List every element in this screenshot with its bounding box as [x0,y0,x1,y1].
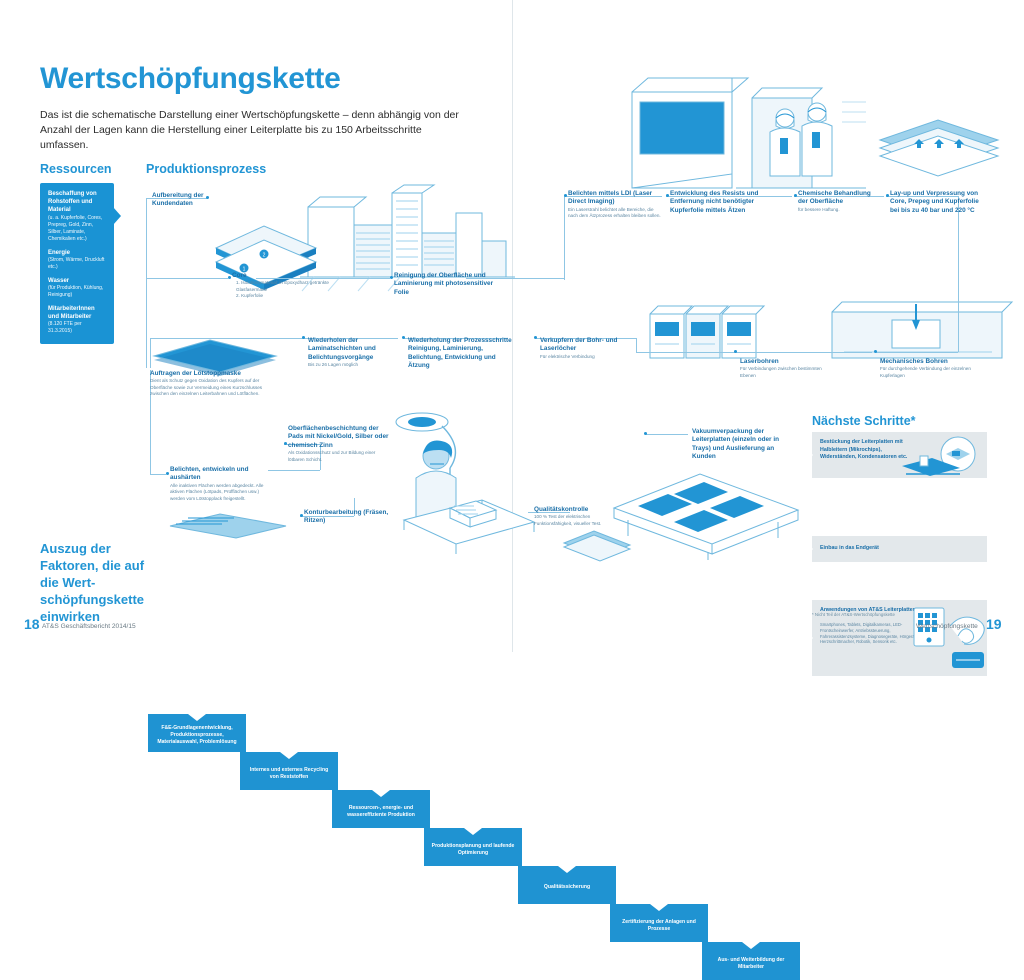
factor-chip[interactable]: Internes und externes Recycling von Rest… [240,752,338,790]
step-label: Wiederholen der Laminatschichten und Bel… [308,337,402,362]
connector [150,338,151,368]
step-detail: 1. Isolationsmaterial: in Epoxydharz get… [232,280,332,299]
step-detail: Ein Laserstrahl belichtet alle Bereiche,… [568,207,664,220]
step-ldi: Belichten mittels LDI (Laser Direct Imag… [568,190,664,220]
step-resist: Entwicklung des Resists und Entfernung n… [670,190,784,215]
resource-item: MitarbeiterInnen und Mitarbeiter (8.120 … [48,305,106,335]
connector-dot [734,350,737,353]
section-heading-resources: Ressourcen [40,162,112,176]
page-gutter [512,0,513,652]
resource-title: MitarbeiterInnen und Mitarbeiter [48,305,106,321]
section-heading-process: Produktionsprozess [146,162,266,176]
connector [268,470,320,471]
connector [646,434,688,435]
step-detail: Für elektrische Verbindung [540,354,636,360]
page-lead: Das ist die schematische Darstellung ein… [40,108,470,153]
connector [636,352,736,353]
step-detail: Alle inaktiven Flächen werden abgedeckt.… [170,483,272,502]
page-number-left: 18 [24,616,40,632]
resources-arrow [113,207,121,225]
step-label: Oberflächenbeschichtung der Pads mit Nic… [288,425,392,450]
connector-dot [228,276,231,279]
resource-detail: (für Produktion, Kühlung, Reinigung) [48,285,106,299]
factor-label: F&E-Grundlagenentwicklung, Produktionspr… [153,720,241,746]
footnote: * Nicht Teil der AT&S-Wertschöpfungskett… [812,612,895,617]
step-detail: Dient als Schutz gegen Oxidation des Kup… [150,378,266,397]
resource-detail: (u. a. Kupferfolie, Cores, Prepreg, Gold… [48,215,106,243]
step-label: Entwicklung des Resists und Entfernung n… [670,190,784,215]
step-label: Belichten mittels LDI (Laser Direct Imag… [568,190,664,207]
step-label: Chemische Behandlung der Oberfläche [798,190,882,207]
step-belichten-entwickeln: Belichten, entwickeln und aushärten Alle… [170,466,272,502]
connector-dot [644,432,647,435]
factor-chip[interactable]: Aus- und Weiterbildung der Mitarbeiter [702,942,800,980]
conveyor-panels-illustration [608,452,808,557]
factor-chip[interactable]: Zertifizierung der Anlagen und Prozesse [610,904,708,942]
card-arrow-icon [812,542,813,556]
connector-dot [302,336,305,339]
connector-dot [564,194,567,197]
factor-chip[interactable]: F&E-Grundlagenentwicklung, Produktionspr… [148,714,246,752]
connector [150,474,166,475]
step-label: Aufbereitung der Kundendaten [152,192,226,209]
step-loetstoppmaske: Auftragen der Lötstoppmaske Dient als Sc… [150,370,266,398]
step-kundendaten: Aufbereitung der Kundendaten [152,192,226,209]
svg-text:2: 2 [263,253,266,259]
step-detail: Für Verbindungen zwischen bestimmten Ebe… [740,366,836,379]
step-reinigung: Reinigung der Oberfläche und Laminierung… [394,272,502,297]
factor-label: Zertifizierung der Anlagen und Prozesse [615,914,703,933]
page-title: Wertschöpfungskette [40,62,340,96]
step-label: Reinigung der Oberfläche und Laminierung… [394,272,502,297]
connector-dot [534,336,537,339]
step-detail: 100 % Test der elektrischen Funktionsfäh… [534,514,618,527]
factor-chip[interactable]: Produktionsplanung und laufende Optimier… [424,828,522,866]
step-wiederholen: Wiederholen der Laminatschichten und Bel… [308,337,402,369]
connector [958,196,959,352]
devices-icon [912,604,986,674]
footer-source-right: Wertschöpfungskette [916,623,978,630]
step-oberflaechenbeschichtung: Oberflächenbeschichtung der Pads mit Nic… [288,425,392,463]
connector [146,278,228,279]
step-chemische-behandlung: Chemische Behandlung der Oberfläche für … [798,190,882,213]
factor-label: Qualitätssicherung [544,879,590,891]
step-detail: Für durchgehende Verbindung der einzelne… [880,366,984,379]
step-label: Mechanisches Bohren [880,358,984,366]
step-label: Belichten, entwickeln und aushärten [170,466,272,483]
resource-item: Wasser (für Produktion, Kühlung, Reinigu… [48,277,106,299]
resources-panel: Beschaffung von Rohstoffen und Material … [40,183,114,344]
pcb-assembly-icon [898,436,984,478]
infographic-page: Wertschöpfungskette Das ist die schemati… [0,0,1024,652]
next-step-card-einbau[interactable]: Einbau in das Endgerät [812,536,987,562]
connector-dot [390,276,393,279]
factor-label: Internes und externes Recycling von Rest… [245,762,333,781]
step-qualitaetskontrolle: Qualitätskontrolle 100 % Test der elektr… [534,506,618,527]
exposure-strip-illustration [168,512,288,538]
factor-chip[interactable]: Qualitätssicherung [518,866,616,904]
footer-source-left: AT&S Geschäftsbericht 2014/15 [42,623,136,630]
step-label: Konturbearbeitung (Fräsen, Ritzen) [304,509,394,526]
factor-label: Aus- und Weiterbildung der Mitarbeiter [707,952,795,971]
step-label: Vakuumverpackung der Leiterplatten (einz… [692,428,798,462]
resource-title: Wasser [48,277,106,285]
resource-item: Beschaffung von Rohstoffen und Material … [48,190,106,243]
vacuum-pack-illustration [560,525,634,561]
step-laserbohren: Laserbohren Für Verbindungen zwischen be… [740,358,836,379]
connector [736,352,872,353]
connector-dot [166,472,169,475]
step-mechanisches-bohren: Mechanisches Bohren Für durchgehende Ver… [880,358,984,379]
factor-label: Ressourcen-, energie- und wassereffizien… [337,800,425,819]
resource-title: Beschaffung von Rohstoffen und Material [48,190,106,215]
step-label: Core [232,272,332,280]
step-label: Laserbohren [740,358,836,366]
factor-chip[interactable]: Ressourcen-, energie- und wassereffizien… [332,790,430,828]
connector-dot [794,194,797,197]
press-machine-illustration [872,118,1004,178]
connector-dot [402,336,405,339]
connector [146,198,147,368]
step-layup: Lay-up und Verpressung von Core, Prepeg … [890,190,986,215]
step-label: Qualitätskontrolle [534,506,618,514]
step-label: Auftragen der Lötstoppmaske [150,370,266,378]
chip-notch [558,866,576,878]
connector-dot [300,514,303,517]
step-vakuumverpackung: Vakuumverpackung der Leiterplatten (einz… [692,428,798,462]
step-detail: Bis zu 26 Lagen möglich [308,362,402,368]
section-heading-factors: Auszug der Faktoren, die auf die Wert-sc… [40,540,150,625]
step-detail: Als Oxidationsschutz und zur Bildung ein… [288,450,392,463]
next-step-title: Einbau in das Endgerät [820,545,917,553]
connector [564,196,565,280]
step-label: Verkupfern der Bohr- und Laserlöcher [540,337,636,354]
resource-detail: (8.120 FTE per 31.3.2015) [48,321,106,335]
connector [150,338,306,339]
section-heading-next-steps: Nächste Schritte* [812,414,916,428]
connector-dot [206,196,209,199]
step-label: Lay-up und Verpressung von Core, Prepeg … [890,190,986,215]
connector-dot [666,194,669,197]
factor-label: Produktionsplanung und laufende Optimier… [429,838,517,857]
connector [876,352,958,353]
page-number-right: 19 [986,616,1002,632]
connector-dot [874,350,877,353]
step-konturbearbeitung: Konturbearbeitung (Fräsen, Ritzen) [304,509,394,526]
card-arrow-icon [812,631,813,645]
resource-item: Energie (Strom, Wärme, Druckluft etc.) [48,249,106,271]
next-step-detail: Smartphones, Tablets, Digitalkameras, LE… [820,622,920,645]
connector [636,338,637,352]
step-verkupfern: Verkupfern der Bohr- und Laserlöcher Für… [540,337,636,360]
next-step-card-bestueckung[interactable]: Bestückung der Leiterplatten mit Halblei… [812,432,987,478]
resource-detail: (Strom, Wärme, Druckluft etc.) [48,257,106,271]
step-core: Core 1. Isolationsmaterial: in Epoxydhar… [232,272,332,300]
solder-mask-panel-illustration [150,338,280,372]
cleanroom-workers-illustration [630,68,870,208]
step-wiederholung: Wiederholung der Prozessschritte Reinigu… [408,337,512,371]
resource-title: Energie [48,249,106,257]
step-label: Wiederholung der Prozessschritte Reinigu… [408,337,512,371]
card-arrow-icon [812,448,813,462]
connector-dot [284,442,287,445]
inspection-worker-illustration [386,408,536,553]
connector-dot [886,194,889,197]
step-detail: für bessere Haftung. [798,207,882,213]
